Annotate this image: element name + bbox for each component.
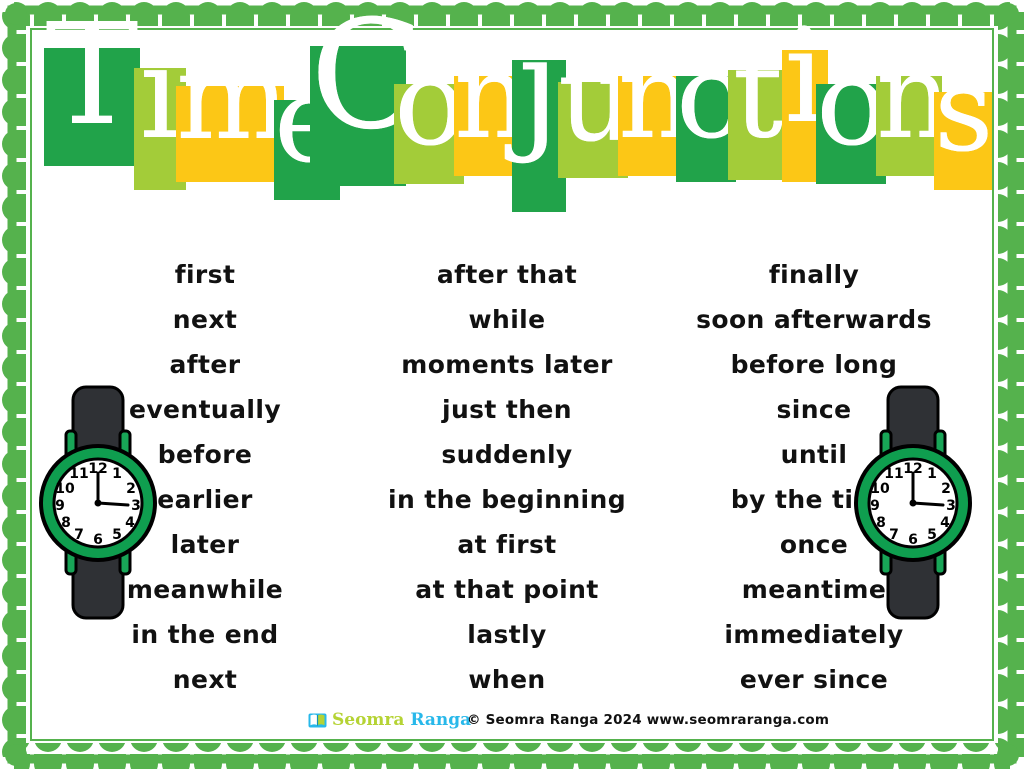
conjunction-word: before	[158, 432, 253, 477]
svg-text:4: 4	[125, 515, 135, 531]
svg-text:11: 11	[884, 466, 903, 482]
word-column-2: after thatwhilemoments laterjust thensud…	[357, 252, 657, 702]
seomra-ranga-logo[interactable]: Seomra Ranga	[308, 710, 471, 730]
title-letter: m	[176, 38, 284, 158]
title-tile-c: c	[676, 76, 736, 182]
conjunction-word: soon afterwards	[696, 297, 932, 342]
conjunction-word: lastly	[467, 612, 547, 657]
page-title: Time Conjunctions	[34, 44, 994, 214]
footer: Seomra Ranga © Seomra Ranga 2024 www.seo…	[30, 708, 994, 738]
wristwatch-illustration-left: 12 1 2 3 4 5 6 7 8 9 10 11	[33, 385, 163, 620]
title-tile-t: t	[728, 70, 788, 180]
svg-text:1: 1	[112, 466, 122, 482]
svg-text:3: 3	[946, 498, 956, 514]
conjunction-word: at first	[457, 522, 556, 567]
svg-text:5: 5	[927, 527, 937, 543]
svg-text:7: 7	[889, 527, 899, 543]
conjunction-word: earlier	[157, 477, 252, 522]
conjunction-word: while	[469, 297, 546, 342]
open-book-icon	[308, 712, 327, 729]
conjunction-word: since	[776, 387, 851, 432]
conjunction-word: finally	[769, 252, 859, 297]
title-letter: n	[876, 37, 942, 155]
conjunction-word: just then	[442, 387, 572, 432]
logo-word-ranga: Ranga	[410, 710, 471, 730]
conjunction-word-columns: firstnextaftereventuallybeforeearlierlat…	[60, 252, 964, 702]
svg-text:9: 9	[870, 498, 880, 514]
title-letter: t	[728, 30, 788, 156]
title-letter: T	[44, 6, 140, 146]
logo-wordmark: Seomra Ranga	[332, 710, 471, 730]
conjunction-word: until	[781, 432, 848, 477]
title-tile-T: T	[44, 48, 140, 166]
title-letter: s	[934, 53, 992, 169]
conjunction-word: next	[173, 297, 237, 342]
conjunction-word: after	[170, 342, 241, 387]
title-tile-n: n	[618, 76, 684, 176]
svg-text:5: 5	[112, 527, 122, 543]
svg-text:8: 8	[876, 515, 886, 531]
title-letter: n	[618, 37, 684, 155]
conjunction-word: first	[175, 252, 236, 297]
conjunction-word: when	[468, 657, 545, 702]
svg-text:9: 9	[55, 498, 65, 514]
svg-text:10: 10	[870, 481, 890, 497]
title-word-time: Time	[46, 44, 340, 214]
conjunction-word: ever since	[740, 657, 888, 702]
copyright-notice: © Seomra Ranga 2024 www.seomraranga.com	[467, 712, 829, 728]
conjunction-word: later	[171, 522, 240, 567]
conjunction-word: suddenly	[441, 432, 572, 477]
svg-text:2: 2	[126, 481, 136, 497]
svg-text:4: 4	[940, 515, 950, 531]
conjunction-word: before long	[731, 342, 898, 387]
conjunction-word: once	[780, 522, 848, 567]
svg-text:6: 6	[908, 532, 918, 548]
poster-page: Time Conjunctions firstnextaftereventual…	[0, 0, 1024, 769]
svg-text:7: 7	[74, 527, 84, 543]
title-word-conjunctions: Conjunctions	[310, 44, 992, 214]
logo-word-seomra: Seomra	[332, 710, 404, 730]
svg-text:2: 2	[941, 481, 951, 497]
title-tile-s: s	[934, 92, 992, 190]
title-letter: C	[310, 1, 406, 151]
title-tile-C: C	[310, 46, 406, 186]
title-letter: n	[454, 37, 520, 155]
svg-text:11: 11	[69, 466, 88, 482]
conjunction-word: at that point	[415, 567, 598, 612]
svg-text:6: 6	[93, 532, 103, 548]
svg-text:3: 3	[131, 498, 141, 514]
conjunction-word: in the beginning	[388, 477, 626, 522]
title-tile-m: m	[176, 86, 284, 182]
svg-text:8: 8	[61, 515, 71, 531]
conjunction-word: after that	[437, 252, 577, 297]
svg-text:1: 1	[927, 466, 937, 482]
svg-text:10: 10	[55, 481, 75, 497]
wristwatch-illustration-right: 12 1 2 3 4 5 6 7 8 9 10 11	[848, 385, 978, 620]
conjunction-word: next	[173, 657, 237, 702]
title-tile-n: n	[876, 76, 942, 176]
title-tile-n: n	[454, 76, 520, 176]
title-letter: c	[676, 37, 736, 155]
conjunction-word: moments later	[401, 342, 612, 387]
